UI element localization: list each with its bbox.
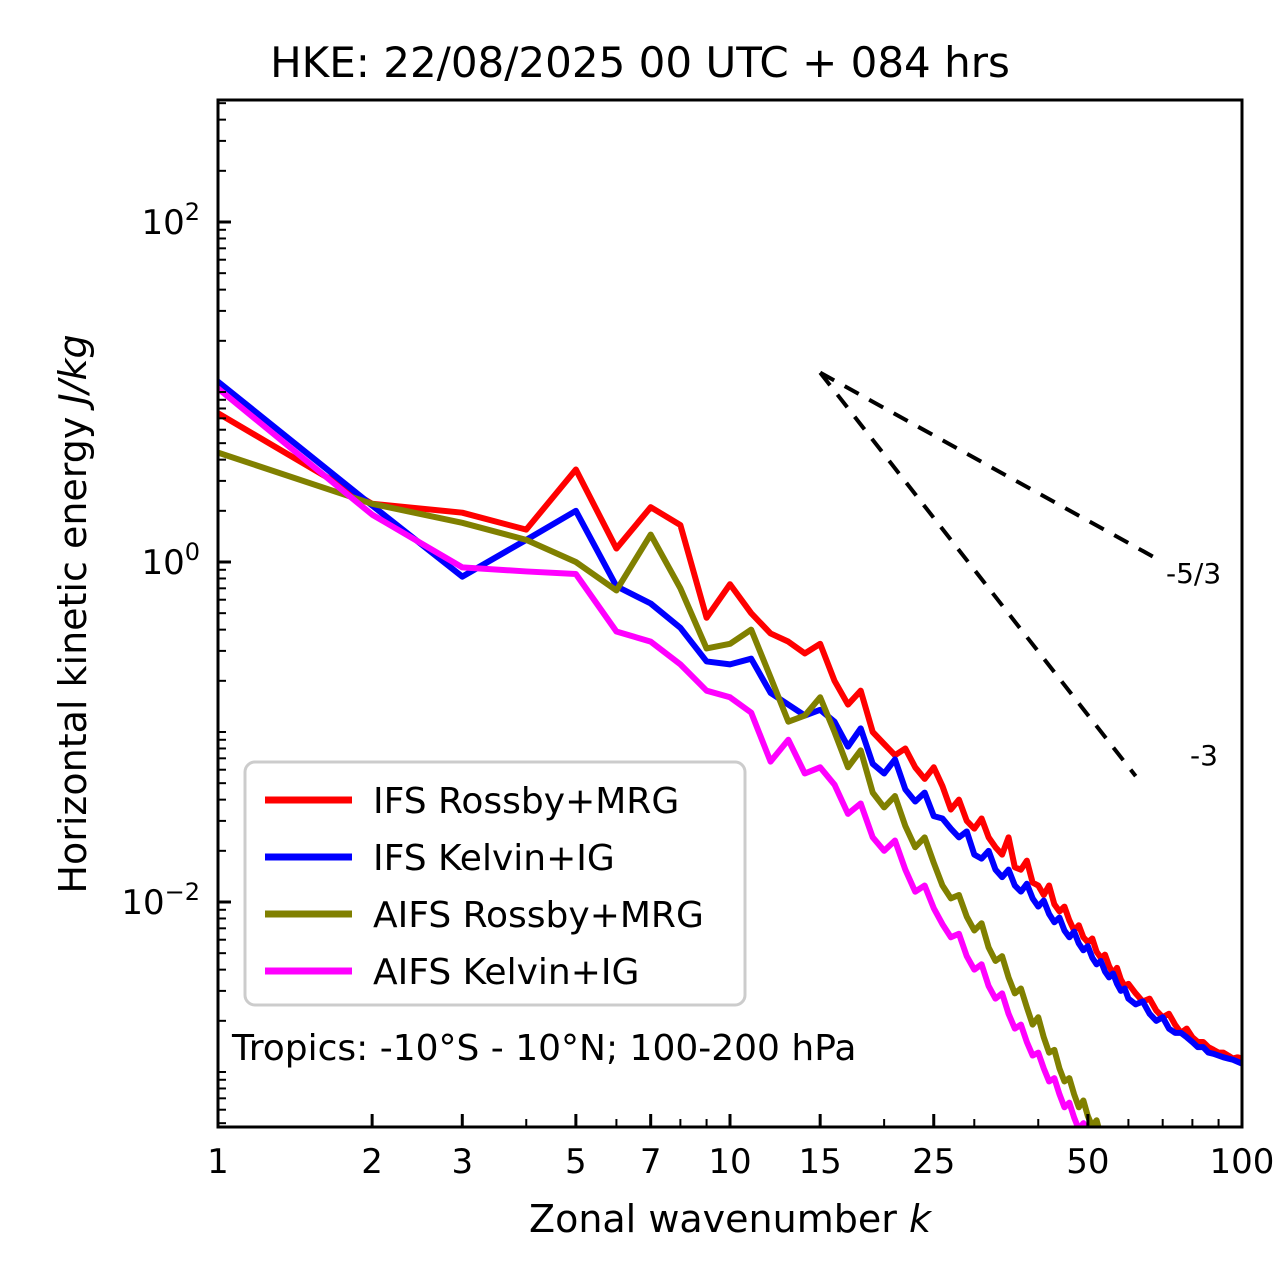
region-annotation: Tropics: -10°S - 10°N; 100-200 hPa [231, 1028, 856, 1069]
figure-container: HKE: 22/08/2025 00 UTC + 084 hrs 1235710… [0, 0, 1280, 1288]
slope-label-five-thirds: -5/3 [1166, 557, 1221, 590]
x-axis-label-main: Zonal wavenumber [529, 1197, 909, 1241]
spectrum-plot: 1235710152550100 10210010−2 -5/3 -3 Zona… [0, 0, 1280, 1288]
x-tick-label: 5 [565, 1142, 587, 1182]
legend-label-2: AIFS Rossby+MRG [373, 895, 704, 936]
x-axis-label: Zonal wavenumber k [529, 1197, 933, 1241]
legend-label-0: IFS Rossby+MRG [373, 781, 679, 822]
x-tick-label: 1 [207, 1142, 229, 1182]
x-tick-label: 100 [1210, 1142, 1275, 1182]
x-tick-label: 3 [451, 1142, 473, 1182]
y-axis-label-symbol: J/kg [51, 334, 95, 411]
x-tick-label: 10 [708, 1142, 751, 1182]
x-tick-label: 50 [1066, 1142, 1109, 1182]
slope-label-minus-three: -3 [1190, 739, 1218, 772]
y-tick-label: 10−2 [121, 878, 200, 923]
legend[interactable]: IFS Rossby+MRGIFS Kelvin+IGAIFS Rossby+M… [245, 762, 745, 1005]
y-tick-label: 102 [141, 198, 200, 243]
x-tick-label: 25 [912, 1142, 955, 1182]
y-tick-label: 100 [141, 538, 200, 583]
x-tick-label: 7 [640, 1142, 662, 1182]
y-axis-ticks: 10210010−2 [121, 103, 231, 1123]
y-axis-label-main: Horizontal kinetic energy [51, 405, 95, 894]
y-axis-label: Horizontal kinetic energy J/kg [51, 334, 95, 893]
x-axis-label-symbol: k [909, 1197, 933, 1241]
x-tick-label: 15 [799, 1142, 842, 1182]
legend-label-3: AIFS Kelvin+IG [373, 952, 639, 993]
legend-label-1: IFS Kelvin+IG [373, 838, 615, 879]
x-tick-label: 2 [361, 1142, 383, 1182]
